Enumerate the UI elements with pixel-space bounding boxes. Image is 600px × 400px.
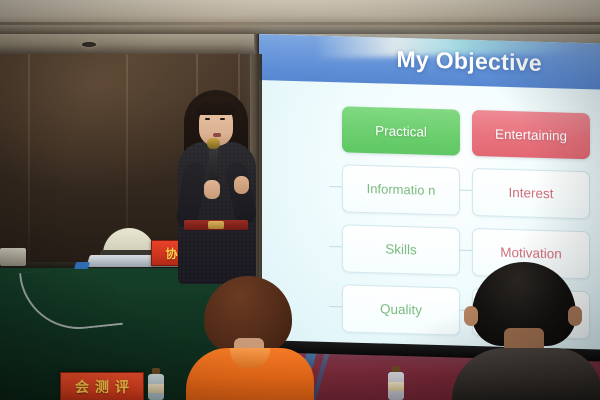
nameplate-char: 测: [95, 377, 109, 397]
nameplate-char: 会: [75, 377, 89, 397]
connector-line: [329, 306, 342, 307]
audience-member-right: [452, 262, 600, 400]
connector-line: [459, 250, 472, 251]
bottle-label: [148, 384, 164, 393]
connector-line: [329, 246, 342, 247]
presenter-hand-right: [234, 176, 249, 194]
audience-right-ear: [464, 306, 478, 326]
slide-item-interest: Interest: [472, 168, 590, 219]
slide-item-information: Informatio n: [342, 164, 460, 215]
presenter-mouth: [213, 133, 221, 137]
slide-item-wrap: Interest: [472, 168, 590, 219]
slide-item-quality: Quality: [342, 284, 460, 335]
presenter-eye: [205, 118, 210, 120]
connector-line: [329, 186, 342, 187]
nameplate-front: 会 测 评: [60, 372, 144, 400]
slide-item-skills: Skills: [342, 224, 460, 275]
downlight-icon: [82, 42, 96, 47]
water-bottle: [388, 366, 404, 400]
connector-line: [459, 190, 472, 191]
microphone-head-icon: [207, 138, 220, 149]
cable-plug: [74, 262, 90, 269]
presentation-photo: My Objective Practical Informatio n Skil…: [0, 0, 600, 400]
audience-member-left: [186, 276, 314, 400]
slide-header-entertaining: Entertaining: [472, 110, 590, 159]
audience-right-ear: [568, 306, 582, 326]
presenter-eye: [220, 118, 225, 120]
audience-right-shirt: [452, 348, 600, 400]
nameplate-char: 评: [115, 377, 129, 397]
slide-title: My Objective: [397, 46, 543, 77]
water-bottle: [148, 368, 164, 400]
ceiling-trim: [0, 22, 600, 25]
bottle-label: [388, 382, 404, 391]
presenter-fringe: [196, 96, 236, 115]
presenter-belt-buckle: [208, 221, 224, 229]
slide-header-practical: Practical: [342, 106, 460, 155]
ceiling: [0, 0, 600, 34]
presenter-hand-left: [204, 180, 220, 199]
slide-item-wrap: Skills: [342, 224, 460, 275]
slide-item-wrap: Informatio n: [342, 164, 460, 215]
slide-item-wrap: Quality: [342, 284, 460, 335]
monitor-edge: [0, 248, 26, 266]
slide-column-practical: Practical Informatio n Skills Quality: [342, 106, 460, 335]
presenter: [172, 84, 264, 284]
